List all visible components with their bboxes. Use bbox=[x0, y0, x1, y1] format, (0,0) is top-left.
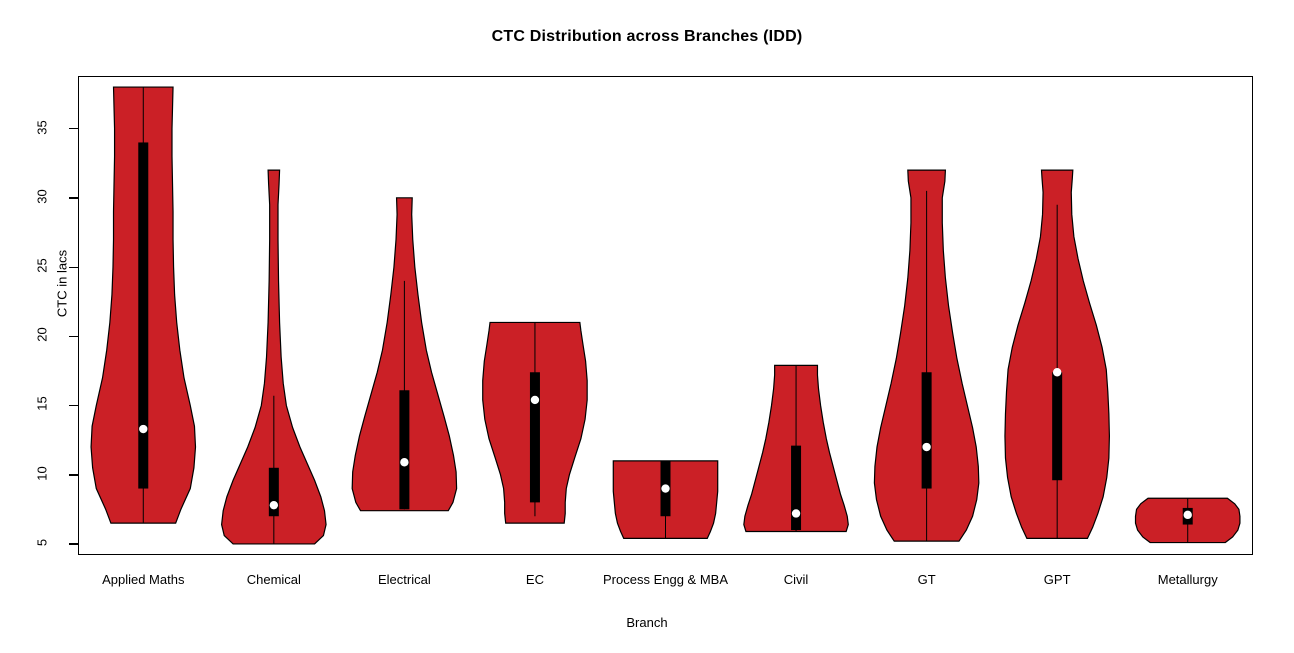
plot-frame bbox=[78, 76, 1253, 555]
x-tick-label: Applied Maths bbox=[102, 572, 184, 587]
x-tick-label: GT bbox=[918, 572, 936, 587]
x-tick-label: Process Engg & MBA bbox=[603, 572, 728, 587]
x-tick-label: Civil bbox=[784, 572, 809, 587]
x-tick-label: EC bbox=[526, 572, 544, 587]
x-tick-label: Metallurgy bbox=[1158, 572, 1218, 587]
x-tick-label: Electrical bbox=[378, 572, 431, 587]
chart-canvas: CTC Distribution across Branches (IDD) C… bbox=[0, 0, 1294, 653]
x-tick-label: Chemical bbox=[247, 572, 301, 587]
x-tick-label: GPT bbox=[1044, 572, 1071, 587]
